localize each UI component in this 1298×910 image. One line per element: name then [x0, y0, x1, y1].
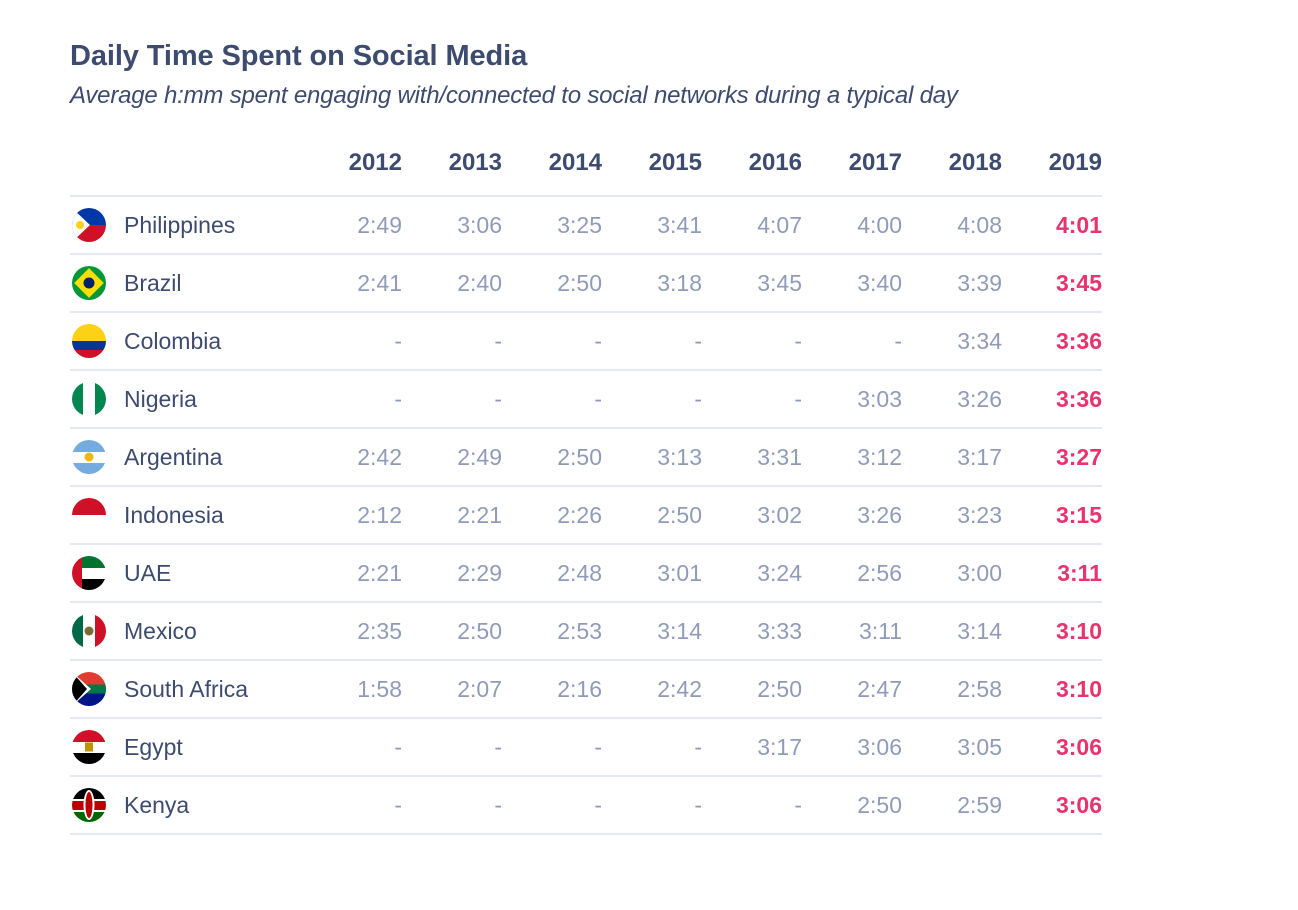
country-name: Philippines	[112, 196, 302, 254]
value-cell-2019: 3:06	[1002, 776, 1102, 834]
value-cell-2013: -	[402, 718, 502, 776]
value-cell-2014: 2:50	[502, 428, 602, 486]
value-cell-2013: -	[402, 312, 502, 370]
table-header-row: 2012 2013 2014 2015 2016 2017 2018 2019	[70, 149, 1102, 196]
value-cell-2016: 4:07	[702, 196, 802, 254]
flag-indonesia-icon	[70, 486, 112, 544]
value-cell-2012: -	[302, 312, 402, 370]
value-cell-2016: -	[702, 370, 802, 428]
value-cell-2015: -	[602, 718, 702, 776]
report-page: Daily Time Spent on Social Media Average…	[0, 0, 1298, 910]
value-cell-2013: 2:29	[402, 544, 502, 602]
value-cell-2018: 3:17	[902, 428, 1002, 486]
value-cell-2018: 3:26	[902, 370, 1002, 428]
value-cell-2014: 2:26	[502, 486, 602, 544]
value-cell-2015: 3:14	[602, 602, 702, 660]
value-cell-2012: 2:12	[302, 486, 402, 544]
flag-colombia-icon	[70, 312, 112, 370]
value-cell-2014: -	[502, 718, 602, 776]
value-cell-2013: 3:06	[402, 196, 502, 254]
table-container: 2012 2013 2014 2015 2016 2017 2018 2019 …	[70, 149, 1102, 835]
value-cell-2019: 3:36	[1002, 312, 1102, 370]
value-cell-2013: 2:40	[402, 254, 502, 312]
value-cell-2018: 3:39	[902, 254, 1002, 312]
value-cell-2015: 3:41	[602, 196, 702, 254]
value-cell-2019: 3:27	[1002, 428, 1102, 486]
value-cell-2017: 4:00	[802, 196, 902, 254]
flag-philippines-icon	[70, 196, 112, 254]
value-cell-2018: 3:23	[902, 486, 1002, 544]
value-cell-2017: 3:26	[802, 486, 902, 544]
value-cell-2014: -	[502, 312, 602, 370]
table-row: Argentina2:422:492:503:133:313:123:173:2…	[70, 428, 1102, 486]
value-cell-2019: 3:45	[1002, 254, 1102, 312]
value-cell-2013: 2:07	[402, 660, 502, 718]
column-header-2019[interactable]: 2019	[1002, 149, 1102, 196]
value-cell-2016: 3:24	[702, 544, 802, 602]
value-cell-2012: 1:58	[302, 660, 402, 718]
value-cell-2015: 2:42	[602, 660, 702, 718]
country-name: Mexico	[112, 602, 302, 660]
value-cell-2017: 2:50	[802, 776, 902, 834]
value-cell-2015: 3:13	[602, 428, 702, 486]
value-cell-2015: -	[602, 370, 702, 428]
table-header: 2012 2013 2014 2015 2016 2017 2018 2019	[70, 149, 1102, 196]
table-row: UAE2:212:292:483:013:242:563:003:11	[70, 544, 1102, 602]
flag-egypt-icon	[70, 718, 112, 776]
country-name: Colombia	[112, 312, 302, 370]
value-cell-2012: 2:41	[302, 254, 402, 312]
value-cell-2018: 4:08	[902, 196, 1002, 254]
value-cell-2012: 2:42	[302, 428, 402, 486]
table-body: Philippines2:493:063:253:414:074:004:084…	[70, 196, 1102, 834]
value-cell-2012: -	[302, 718, 402, 776]
value-cell-2019: 3:10	[1002, 602, 1102, 660]
country-name: South Africa	[112, 660, 302, 718]
value-cell-2013: -	[402, 776, 502, 834]
value-cell-2016: -	[702, 776, 802, 834]
value-cell-2016: 3:02	[702, 486, 802, 544]
value-cell-2017: 3:06	[802, 718, 902, 776]
value-cell-2012: 2:35	[302, 602, 402, 660]
value-cell-2018: 2:58	[902, 660, 1002, 718]
table-row: Philippines2:493:063:253:414:074:004:084…	[70, 196, 1102, 254]
value-cell-2013: 2:50	[402, 602, 502, 660]
column-header-2018[interactable]: 2018	[902, 149, 1002, 196]
value-cell-2014: 2:48	[502, 544, 602, 602]
table-row: Colombia------3:343:36	[70, 312, 1102, 370]
page-subtitle: Average h:mm spent engaging with/connect…	[70, 80, 1298, 111]
value-cell-2018: 3:34	[902, 312, 1002, 370]
value-cell-2012: 2:49	[302, 196, 402, 254]
country-name: UAE	[112, 544, 302, 602]
value-cell-2017: 3:11	[802, 602, 902, 660]
column-header-2015[interactable]: 2015	[602, 149, 702, 196]
column-header-2014[interactable]: 2014	[502, 149, 602, 196]
value-cell-2012: -	[302, 370, 402, 428]
value-cell-2019: 3:10	[1002, 660, 1102, 718]
value-cell-2016: 3:31	[702, 428, 802, 486]
value-cell-2016: 3:45	[702, 254, 802, 312]
country-name: Kenya	[112, 776, 302, 834]
flag-argentina-icon	[70, 428, 112, 486]
value-cell-2016: 3:17	[702, 718, 802, 776]
value-cell-2013: 2:49	[402, 428, 502, 486]
value-cell-2015: -	[602, 312, 702, 370]
table-row: Mexico2:352:502:533:143:333:113:143:10	[70, 602, 1102, 660]
column-header-2017[interactable]: 2017	[802, 149, 902, 196]
country-name: Nigeria	[112, 370, 302, 428]
column-header-2012[interactable]: 2012	[302, 149, 402, 196]
table-row: Brazil2:412:402:503:183:453:403:393:45	[70, 254, 1102, 312]
value-cell-2019: 3:11	[1002, 544, 1102, 602]
table-row: Kenya-----2:502:593:06	[70, 776, 1102, 834]
column-header-flag	[70, 149, 112, 196]
value-cell-2019: 3:15	[1002, 486, 1102, 544]
value-cell-2016: 3:33	[702, 602, 802, 660]
value-cell-2019: 3:06	[1002, 718, 1102, 776]
value-cell-2017: 3:12	[802, 428, 902, 486]
value-cell-2015: 2:50	[602, 486, 702, 544]
value-cell-2015: 3:01	[602, 544, 702, 602]
flag-brazil-icon	[70, 254, 112, 312]
value-cell-2019: 4:01	[1002, 196, 1102, 254]
value-cell-2014: 2:50	[502, 254, 602, 312]
flag-uae-icon	[70, 544, 112, 602]
value-cell-2017: 2:47	[802, 660, 902, 718]
value-cell-2017: 3:40	[802, 254, 902, 312]
value-cell-2018: 3:14	[902, 602, 1002, 660]
flag-mexico-icon	[70, 602, 112, 660]
country-name: Egypt	[112, 718, 302, 776]
flag-kenya-icon	[70, 776, 112, 834]
value-cell-2017: -	[802, 312, 902, 370]
column-header-country	[112, 149, 302, 196]
value-cell-2018: 2:59	[902, 776, 1002, 834]
value-cell-2013: 2:21	[402, 486, 502, 544]
value-cell-2016: 2:50	[702, 660, 802, 718]
value-cell-2012: -	[302, 776, 402, 834]
table-row: South Africa1:582:072:162:422:502:472:58…	[70, 660, 1102, 718]
value-cell-2018: 3:05	[902, 718, 1002, 776]
country-name: Brazil	[112, 254, 302, 312]
value-cell-2015: 3:18	[602, 254, 702, 312]
value-cell-2014: 3:25	[502, 196, 602, 254]
column-header-2013[interactable]: 2013	[402, 149, 502, 196]
table-row: Nigeria-----3:033:263:36	[70, 370, 1102, 428]
value-cell-2017: 2:56	[802, 544, 902, 602]
flag-nigeria-icon	[70, 370, 112, 428]
country-name: Indonesia	[112, 486, 302, 544]
value-cell-2015: -	[602, 776, 702, 834]
value-cell-2012: 2:21	[302, 544, 402, 602]
table-row: Egypt----3:173:063:053:06	[70, 718, 1102, 776]
value-cell-2019: 3:36	[1002, 370, 1102, 428]
column-header-2016[interactable]: 2016	[702, 149, 802, 196]
page-title: Daily Time Spent on Social Media	[70, 38, 1298, 74]
value-cell-2016: -	[702, 312, 802, 370]
country-name: Argentina	[112, 428, 302, 486]
value-cell-2018: 3:00	[902, 544, 1002, 602]
table-row: Indonesia2:122:212:262:503:023:263:233:1…	[70, 486, 1102, 544]
flag-south-africa-icon	[70, 660, 112, 718]
value-cell-2014: 2:53	[502, 602, 602, 660]
value-cell-2014: -	[502, 370, 602, 428]
value-cell-2013: -	[402, 370, 502, 428]
social-media-time-table: 2012 2013 2014 2015 2016 2017 2018 2019 …	[70, 149, 1102, 835]
value-cell-2017: 3:03	[802, 370, 902, 428]
value-cell-2014: -	[502, 776, 602, 834]
value-cell-2014: 2:16	[502, 660, 602, 718]
